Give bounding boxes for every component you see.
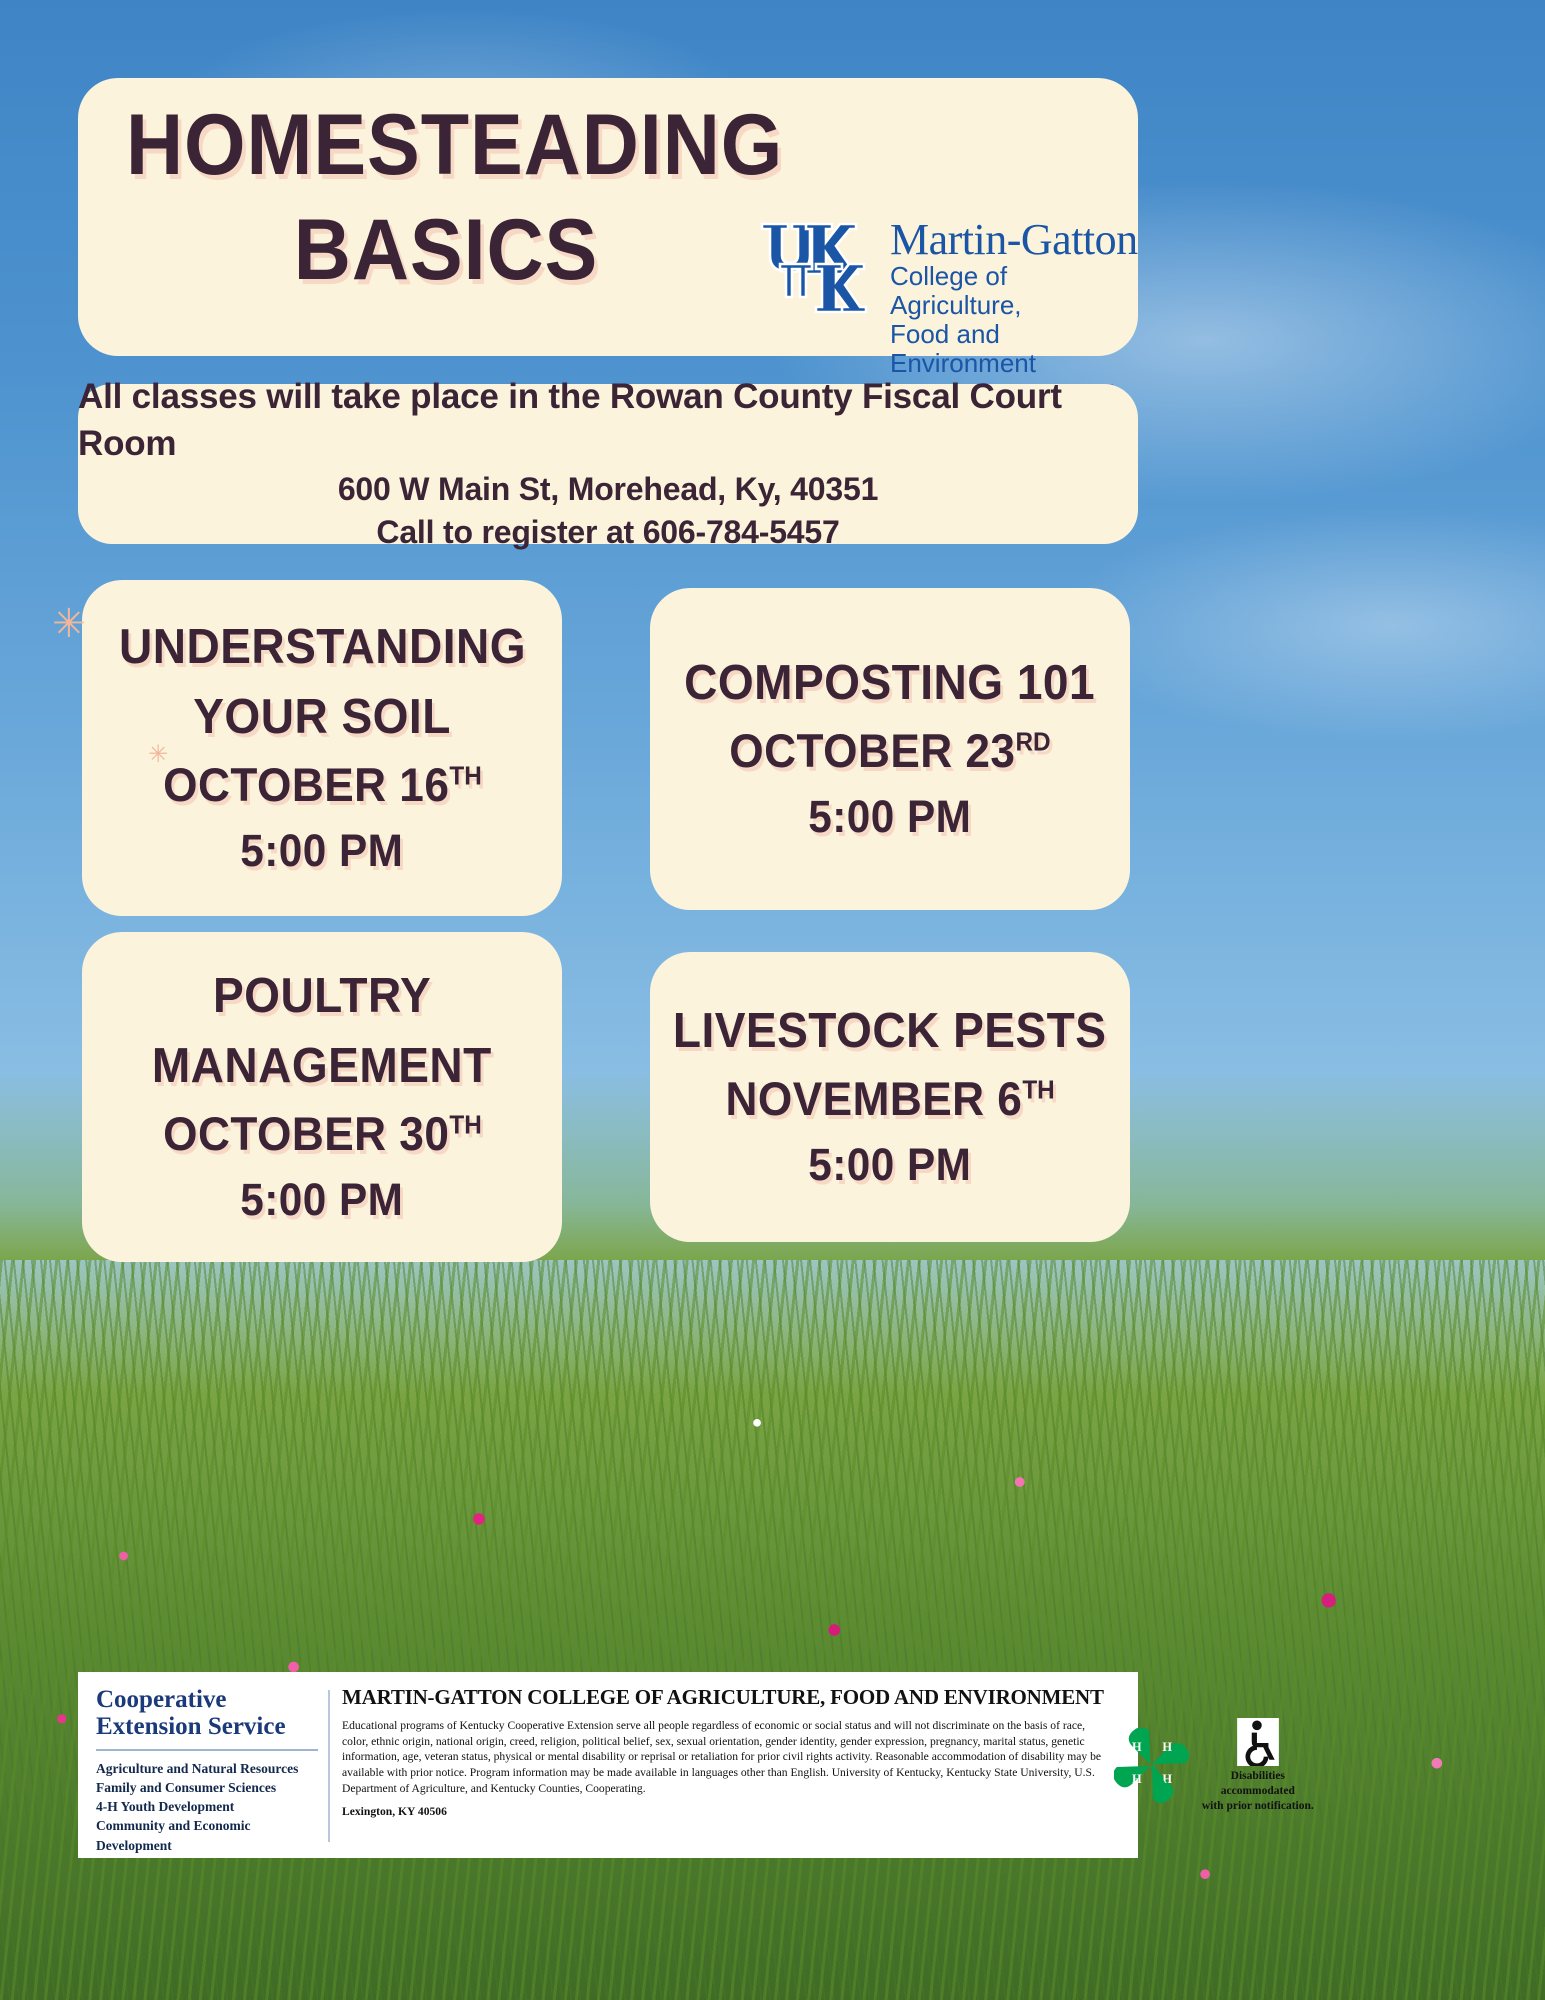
event-date-ordinal: RD [1016, 729, 1051, 757]
flower-meadow-background [0, 1260, 1545, 2000]
address-panel: All classes will take place in the Rowan… [78, 384, 1138, 544]
program-item-4h-youth: 4-H Youth Development [96, 1797, 318, 1816]
event-date-ordinal: TH [449, 1112, 481, 1140]
program-item-agriculture: Agriculture and Natural Resources [96, 1759, 318, 1778]
event-date: OCTOBER 23RD [729, 718, 1050, 785]
footer-disclaimer-block: MARTIN-GATTON COLLEGE OF AGRICULTURE, FO… [342, 1686, 1114, 1846]
event-title-line1: COMPOSTING 101 [685, 649, 1096, 719]
event-time: 5:00 PM [808, 1133, 971, 1197]
logo-name: Martin-Gatton [890, 218, 1138, 262]
ces-title-line1: Cooperative [96, 1686, 318, 1713]
address-venue: All classes will take place in the Rowan… [78, 374, 1138, 468]
logo-college-line1: College of Agriculture, [890, 262, 1138, 320]
svg-text:H: H [1132, 1740, 1142, 1754]
address-street: 600 W Main St, Morehead, Ky, 40351 [338, 468, 878, 511]
footer-icons-block: HH HH Disabilities accommodated with pri… [1114, 1686, 1324, 1846]
footer-divider [96, 1749, 318, 1751]
event-date-text: NOVEMBER 6 [725, 1072, 1022, 1125]
logo-college-line2: Food and Environment [890, 320, 1138, 378]
accessibility-line2: accommodated [1202, 1784, 1314, 1799]
event-date: OCTOBER 16TH [163, 752, 482, 819]
nondiscrimination-statement: Educational programs of Kentucky Coopera… [342, 1718, 1104, 1796]
event-date: NOVEMBER 6TH [725, 1066, 1054, 1133]
event-card-composting-101: COMPOSTING 101 OCTOBER 23RD 5:00 PM [650, 588, 1130, 910]
accessibility-block: Disabilities accommodated with prior not… [1202, 1718, 1314, 1814]
poster-title-block: HOMESTEADING BASICS [126, 100, 766, 296]
wheelchair-accessibility-icon [1237, 1718, 1279, 1766]
event-date-ordinal: TH [1022, 1077, 1054, 1105]
event-title-line1: LIVESTOCK PESTS [673, 997, 1107, 1067]
event-time: 5:00 PM [240, 819, 403, 883]
event-date-text: OCTOBER 30 [163, 1107, 449, 1160]
program-item-community-economic: Community and Economic Development [96, 1816, 318, 1854]
footer-city: Lexington, KY 40506 [342, 1805, 1104, 1818]
header-panel: HOMESTEADING BASICS Martin-Gatton Colleg… [78, 78, 1138, 356]
page-subtitle: BASICS [152, 205, 741, 296]
event-date-ordinal: TH [449, 763, 481, 791]
asterisk-decor-icon: ✳ [148, 742, 168, 766]
event-card-livestock-pests: LIVESTOCK PESTS NOVEMBER 6TH 5:00 PM [650, 952, 1130, 1242]
svg-text:H: H [1132, 1772, 1142, 1786]
accessibility-line1: Disabilities [1202, 1769, 1314, 1784]
footer-bar: Cooperative Extension Service Agricultur… [78, 1672, 1138, 1858]
event-title-line1: UNDERSTANDING [119, 613, 526, 683]
page-title: HOMESTEADING [126, 100, 715, 191]
event-card-poultry-management: POULTRY MANAGEMENT OCTOBER 30TH 5:00 PM [82, 932, 562, 1262]
footer-college-heading: MARTIN-GATTON COLLEGE OF AGRICULTURE, FO… [342, 1686, 1104, 1709]
uk-wordmark-icon [754, 214, 874, 314]
event-title-line2: MANAGEMENT [152, 1032, 492, 1102]
footer-vertical-rule [328, 1690, 330, 1842]
program-item-family-consumer: Family and Consumer Sciences [96, 1778, 318, 1797]
event-title-line1: POULTRY [213, 962, 431, 1032]
ces-title-line2: Extension Service [96, 1713, 318, 1740]
4h-clover-icon: HH HH [1114, 1728, 1190, 1804]
event-date: OCTOBER 30TH [163, 1101, 482, 1168]
svg-text:H: H [1162, 1740, 1172, 1754]
event-time: 5:00 PM [240, 1168, 403, 1232]
asterisk-decor-icon: ✳ [52, 604, 86, 644]
accessibility-line3: with prior notification. [1202, 1799, 1314, 1814]
event-title-line2: YOUR SOIL [193, 683, 451, 753]
registration-phone: Call to register at 606-784-5457 [376, 511, 839, 554]
event-date-text: OCTOBER 16 [163, 758, 449, 811]
cooperative-extension-block: Cooperative Extension Service Agricultur… [96, 1686, 328, 1846]
event-date-text: OCTOBER 23 [729, 724, 1015, 777]
event-time: 5:00 PM [808, 785, 971, 849]
